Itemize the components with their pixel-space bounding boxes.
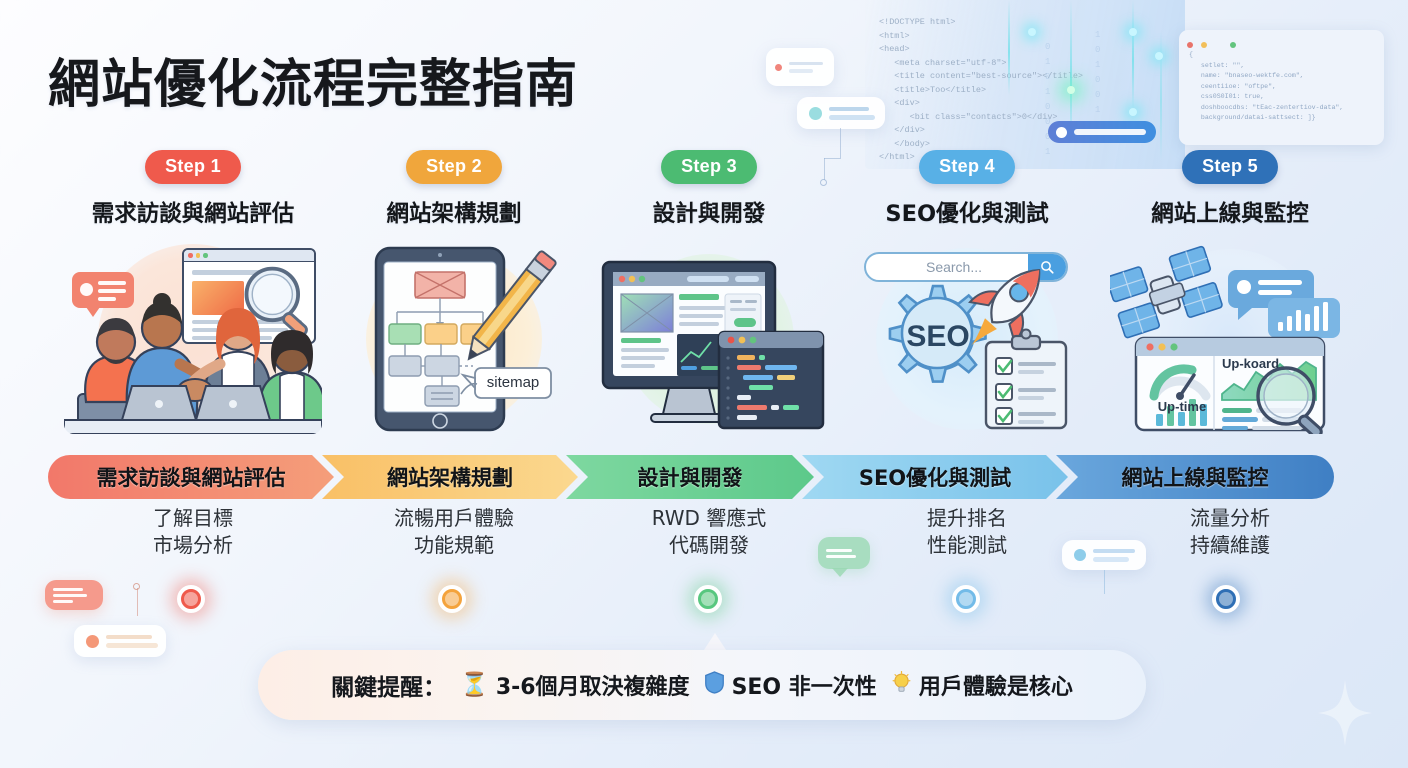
sub-col-4: 提升排名 性能測試 (848, 505, 1086, 559)
glow-dot-cyan-3 (1155, 52, 1163, 60)
sub-line-4a: 提升排名 (848, 505, 1086, 532)
chevron-banner: 需求訪談與網站評估 網站架構規劃 設計與開發 SEO優化與測試 網站上線與監控 (48, 455, 1358, 499)
timeline-node-5[interactable] (1212, 585, 1240, 613)
timeline-node-3[interactable] (694, 585, 722, 613)
floating-chat-card-1 (766, 48, 834, 86)
binary-column-1: 0 1 0 1 0 0 0 1 (1045, 40, 1050, 160)
chevron-step-1[interactable]: 需求訪談與網站評估 (48, 455, 334, 499)
lightbulb-icon (891, 671, 912, 699)
step-column-3: Step 3 設計與開發 (585, 150, 833, 434)
chevron-step-2[interactable]: 網站架構規劃 (322, 455, 578, 499)
sub-line-3a: RWD 響應式 (585, 505, 833, 532)
sub-col-5: 流量分析 持續維護 (1105, 505, 1355, 559)
glow-line-4 (1160, 30, 1162, 160)
step-illustration-3 (591, 244, 827, 434)
step-column-1: Step 1 需求訪談與網站評估 (48, 150, 338, 434)
sub-line-1a: 了解目標 (48, 505, 338, 532)
pill-line (1074, 129, 1146, 135)
glow-line-1 (1070, 0, 1072, 145)
step-illustration-2: sitemap (349, 244, 559, 434)
code-window-body: { setlet: "", name: "bnaseo-wektfe.com",… (1179, 48, 1384, 124)
glow-dot-green (1067, 86, 1075, 94)
step-badge-4[interactable]: Step 4 (919, 150, 1015, 184)
chevron-label-3: 設計與開發 (638, 462, 743, 492)
close-dot-icon (1187, 42, 1193, 48)
chevron-step-3[interactable]: 設計與開發 (566, 455, 814, 499)
floating-chat-card-2 (797, 97, 885, 129)
progress-pill-decor (1048, 121, 1156, 143)
key-reminder-text-3: 用戶體驗是核心 (919, 669, 1073, 701)
sub-line-3b: 代碼開發 (585, 532, 833, 559)
chevron-step-4[interactable]: SEO優化與測試 (802, 455, 1068, 499)
key-reminder-bar: 關鍵提醒： ⏳ 3-6個月取決複雜度 SEO 非一次性 用戶體驗是核心 (258, 650, 1146, 720)
card-lines (829, 107, 875, 120)
key-reminder-item-1: ⏳ 3-6個月取決複雜度 (460, 669, 689, 701)
key-reminder-text-1: 3-6個月取決複雜度 (496, 669, 690, 701)
step-heading-5: 網站上線與監控 (1105, 196, 1355, 228)
maximize-dot-icon2 (1230, 42, 1236, 48)
step-badge-3[interactable]: Step 3 (661, 150, 757, 184)
avatar-dot-icon (809, 107, 822, 120)
sub-line-1b: 市場分析 (48, 532, 338, 559)
chevron-step-5[interactable]: 網站上線與監控 (1056, 455, 1334, 499)
sub-line-2b: 功能規範 (338, 532, 570, 559)
sub-line-5a: 流量分析 (1105, 505, 1355, 532)
binary-column-2: 1 0 1 0 0 1 1 0 (1095, 28, 1100, 148)
team-meeting-illustration (64, 244, 322, 434)
sub-col-3: RWD 響應式 代碼開發 (585, 505, 833, 559)
step-column-4: Step 4 SEO優化與測試 Search... (848, 150, 1086, 434)
step-illustration-1 (64, 244, 322, 434)
hourglass-icon: ⏳ (460, 674, 489, 697)
step-heading-2: 網站架構規劃 (338, 196, 570, 228)
code-window: { setlet: "", name: "bnaseo-wektfe.com",… (1179, 30, 1384, 145)
pill-dot-icon (1056, 127, 1067, 138)
upkoard-chart-label: Up-koard (1222, 356, 1318, 371)
timeline-node-2[interactable] (438, 585, 466, 613)
step-badge-1[interactable]: Step 1 (145, 150, 241, 184)
sub-line-4b: 性能測試 (848, 532, 1086, 559)
uptime-gauge-label: Up-time (1144, 399, 1220, 414)
desktop-code-illustration (591, 244, 827, 434)
step-illustration-5: Up-time Up-koard (1110, 244, 1350, 434)
sparkle-icon (1318, 680, 1372, 746)
sub-col-1: 了解目標 市場分析 (48, 505, 338, 559)
timeline-node-1[interactable] (177, 585, 205, 613)
glow-line-3 (1008, 0, 1010, 95)
chevron-label-5: 網站上線與監控 (1122, 462, 1269, 492)
glow-dot-cyan-1 (1028, 28, 1036, 36)
step-column-5: Step 5 網站上線與監控 (1105, 150, 1355, 434)
step-heading-1: 需求訪談與網站評估 (48, 196, 338, 228)
card-lines (789, 62, 823, 73)
html-code-background: <!DOCTYPE html> <html> <head> <meta char… (865, 0, 1185, 169)
minimize-dot-icon (1201, 42, 1207, 48)
tablet-sitemap-illustration (349, 244, 559, 434)
glow-line-2 (1132, 0, 1134, 110)
key-reminder-item-3: 用戶體驗是核心 (891, 669, 1073, 701)
step-heading-4: SEO優化與測試 (848, 196, 1086, 228)
steps-row: Step 1 需求訪談與網站評估 (0, 150, 1408, 450)
page-title: 網站優化流程完整指南 (48, 42, 578, 117)
maximize-dot-icon (1216, 42, 1222, 48)
key-reminder-text-2: SEO 非一次性 (732, 669, 877, 701)
timeline-node-4[interactable] (952, 585, 980, 613)
sub-col-2: 流暢用戶體驗 功能規範 (338, 505, 570, 559)
key-reminder-item-2: SEO 非一次性 (704, 669, 877, 701)
sitemap-callout-label: sitemap (475, 374, 551, 391)
sub-line-5b: 持續維護 (1105, 532, 1355, 559)
sub-line-2a: 流暢用戶體驗 (338, 505, 570, 532)
shield-icon (704, 671, 725, 699)
step-badge-2[interactable]: Step 2 (406, 150, 502, 184)
step-illustration-4: Search... (854, 244, 1080, 434)
avatar-dot-icon (775, 64, 782, 71)
chevron-label-4: SEO優化與測試 (859, 462, 1011, 492)
seo-gear-label: SEO (888, 320, 988, 354)
step-column-2: Step 2 網站架構規劃 (338, 150, 570, 434)
glow-dot-cyan-4 (1129, 108, 1137, 116)
step-heading-3: 設計與開發 (585, 196, 833, 228)
chevron-label-2: 網站架構規劃 (387, 462, 513, 492)
step-badge-5[interactable]: Step 5 (1182, 150, 1278, 184)
chevron-label-1: 需求訪談與網站評估 (97, 462, 286, 492)
glow-dot-cyan-2 (1129, 28, 1137, 36)
code-window-titlebar (1179, 30, 1384, 48)
key-reminder-label: 關鍵提醒： (331, 668, 446, 702)
